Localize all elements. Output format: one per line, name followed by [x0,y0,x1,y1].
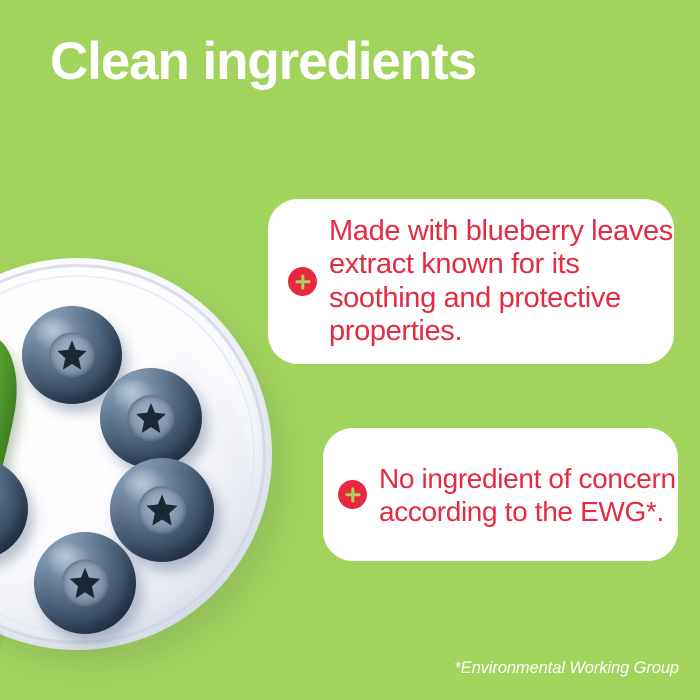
footnote: *Environmental Working Group [454,659,679,678]
blueberry-petri-dish-photo [0,258,272,653]
feature-card-ewg: No ingredient of concern according to th… [323,428,678,561]
plus-badge-icon [288,267,317,296]
blueberry [100,368,202,468]
feature-card-blueberry-extract: Made with blueberry leaves extract known… [268,199,674,364]
feature-card-text: Made with blueberry leaves extract known… [329,215,674,349]
blueberry [22,306,122,404]
berry-crown-star [136,403,167,433]
page-title: Clean ingredients [50,33,476,90]
berry-crown-star [70,568,101,599]
berry-crown-star [57,340,87,369]
blueberry [110,458,214,562]
plus-badge-icon [338,480,367,509]
blueberry [34,532,136,634]
berry-crown-star [146,494,177,525]
promo-banner: Clean ingredients [0,0,700,700]
feature-card-text: No ingredient of concern according to th… [379,462,678,528]
